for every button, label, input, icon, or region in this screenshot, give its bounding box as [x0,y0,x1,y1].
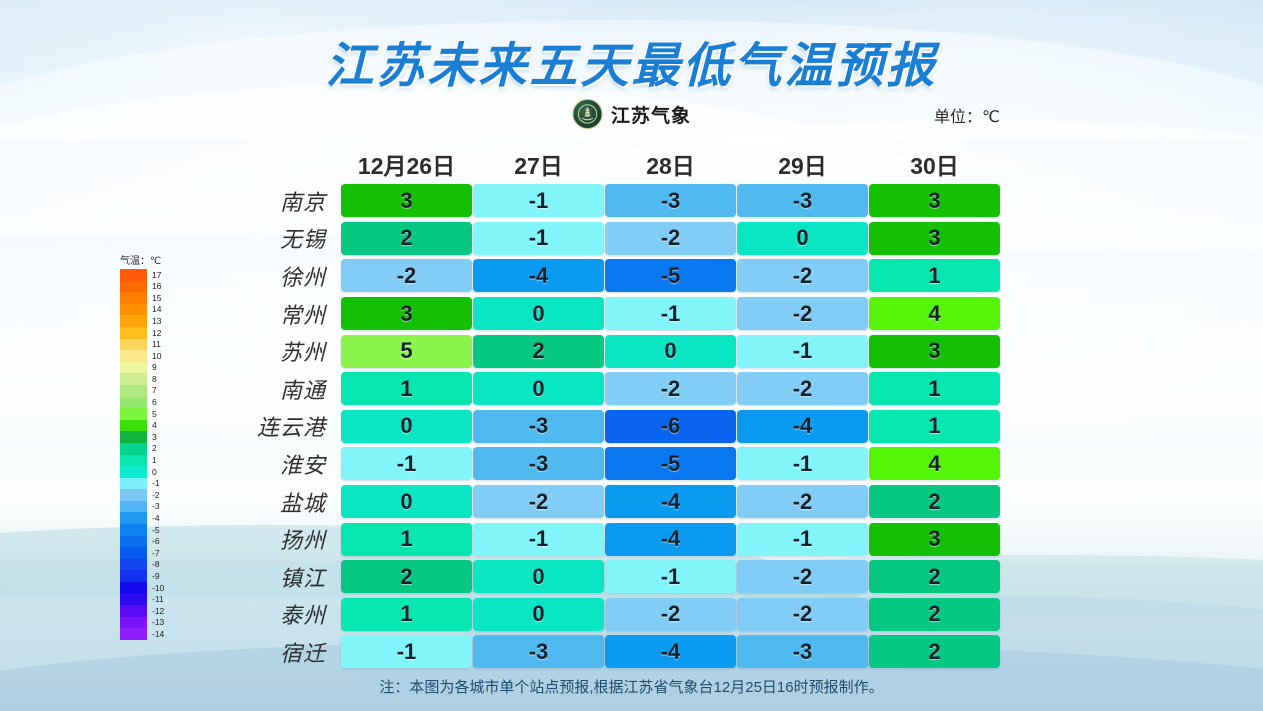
legend-label: 3 [152,433,157,442]
table-column-header: 27日 [473,147,604,181]
legend-label: -6 [152,537,160,546]
temperature-cell: -4 [605,523,736,556]
legend-swatch [120,281,147,293]
footer-note: 注：本图为各城市单个站点预报,根据江苏省气象台12月25日16时预报制作。 [0,676,1263,697]
legend-label: -5 [152,526,160,535]
temperature-cell: 0 [473,560,604,593]
legend-label: 9 [152,363,157,372]
city-label: 扬州 [228,523,340,555]
legend-row: 4 [120,420,186,432]
legend-label: 7 [152,386,157,395]
temperature-cell: -2 [737,560,868,593]
legend-swatch [120,350,147,362]
temperature-cell: -4 [605,635,736,668]
temperature-cell: -3 [737,635,868,668]
legend-label: 6 [152,398,157,407]
temperature-cell: -3 [737,184,868,217]
city-label: 宿迁 [228,636,340,668]
legend-row: 13 [120,315,186,327]
table-column-headers: 12月26日27日28日29日30日 [228,145,1000,182]
temperature-cell: -2 [737,259,868,292]
temperature-cell: 0 [341,485,472,518]
legend-row: -12 [120,605,186,617]
city-label: 泰州 [228,598,340,630]
legend-label: -3 [152,502,160,511]
table-row: 苏州520-13 [228,332,1000,370]
temperature-cell: 1 [341,372,472,405]
legend-row: -11 [120,594,186,606]
table-row: 无锡2-1-203 [228,220,1000,258]
legend-label: -13 [152,618,164,627]
city-label: 淮安 [228,448,340,480]
page-title: 江苏未来五天最低气温预报 [0,26,1263,96]
legend-swatch [120,431,147,443]
legend-row: -3 [120,501,186,513]
table-row: 镇江20-1-22 [228,558,1000,596]
infographic-canvas: 江苏未来五天最低气温预报 江苏气象 单位：℃ 气温：℃ 171615141312… [0,0,1263,711]
legend-title: 气温：℃ [120,256,186,267]
legend-row: 9 [120,362,186,374]
legend-row: -4 [120,512,186,524]
legend-label: -7 [152,549,160,558]
legend-swatch [120,489,147,501]
legend-label: 4 [152,421,157,430]
legend-row: -10 [120,582,186,594]
legend-label: 1 [152,456,157,465]
legend-label: -8 [152,560,160,569]
legend-row: 1 [120,455,186,467]
city-label: 无锡 [228,222,340,254]
temperature-cell: 3 [869,335,1000,368]
temperature-cell: 2 [869,485,1000,518]
temperature-cell: -1 [605,560,736,593]
legend-swatch [120,408,147,420]
legend-swatch [120,373,147,385]
temperature-cell: 0 [473,297,604,330]
legend-label: 14 [152,305,161,314]
temperature-cell: 2 [341,222,472,255]
legend-row: 15 [120,292,186,304]
temperature-cell: 1 [341,598,472,631]
temperature-cell: -3 [473,410,604,443]
city-label: 徐州 [228,260,340,292]
temperature-cell: 0 [737,222,868,255]
temperature-cell: 1 [869,259,1000,292]
temperature-cell: -4 [473,259,604,292]
table-row: 南通10-2-21 [228,370,1000,408]
temperature-cell: -1 [737,447,868,480]
legend-row: -9 [120,570,186,582]
temperature-cell: -6 [605,410,736,443]
temperature-cell: 4 [869,447,1000,480]
temperature-cell: 5 [341,335,472,368]
temperature-cell: 4 [869,297,1000,330]
temperature-cell: 3 [869,184,1000,217]
legend-row: -8 [120,559,186,571]
legend-swatch [120,455,147,467]
legend-row: 6 [120,397,186,409]
temperature-cell: -1 [473,523,604,556]
legend-label: -11 [152,595,164,604]
legend-swatch [120,628,147,640]
temperature-cell: 0 [473,372,604,405]
temperature-cell: 0 [473,598,604,631]
city-label: 连云港 [228,410,340,442]
legend-row: 0 [120,466,186,478]
city-label: 南京 [228,185,340,217]
temperature-legend: 气温：℃ 17161514131211109876543210-1-2-3-4-… [120,256,186,640]
unit-label: 单位：℃ [934,103,1000,127]
legend-row: -1 [120,478,186,490]
temperature-cell: -2 [737,372,868,405]
brand-name: 江苏气象 [611,101,691,128]
legend-row: -14 [120,628,186,640]
legend-row: -2 [120,489,186,501]
legend-swatch [120,397,147,409]
legend-row: -6 [120,536,186,548]
legend-label: 8 [152,375,157,384]
temperature-cell: 2 [341,560,472,593]
temperature-cell: 2 [473,335,604,368]
table-column-header: 12月26日 [341,147,472,181]
temperature-cell: -3 [605,184,736,217]
legend-swatch [120,385,147,397]
legend-swatch [120,443,147,455]
temperature-cell: 3 [869,523,1000,556]
legend-row: -13 [120,617,186,629]
legend-label: 0 [152,468,157,477]
legend-row: 2 [120,443,186,455]
legend-label: -14 [152,630,164,639]
legend-swatch [120,617,147,629]
legend-swatch [120,327,147,339]
brand-row: 江苏气象 单位：℃ [0,99,1263,133]
city-label: 常州 [228,298,340,330]
legend-label: -4 [152,514,160,523]
temperature-cell: -2 [737,485,868,518]
temperature-cell: 3 [869,222,1000,255]
legend-swatch [120,466,147,478]
table-row: 徐州-2-4-5-21 [228,257,1000,295]
legend-swatch [120,269,147,281]
table-column-header: 28日 [605,147,736,181]
jiangsu-meteorology-emblem-icon [572,99,602,129]
temperature-cell: -2 [341,259,472,292]
temperature-cell: -1 [473,184,604,217]
legend-swatch [120,304,147,316]
legend-label: 10 [152,352,161,361]
temperature-cell: -1 [473,222,604,255]
legend-label: 16 [152,282,161,291]
legend-label: 12 [152,329,161,338]
legend-swatch [120,315,147,327]
table-body: 南京3-1-3-33无锡2-1-203徐州-2-4-5-21常州30-1-24苏… [228,182,1000,671]
legend-swatch [120,478,147,490]
temperature-cell: -2 [605,372,736,405]
temperature-cell: 3 [341,297,472,330]
legend-row: 17 [120,269,186,281]
temperature-cell: 0 [605,335,736,368]
temperature-cell: 2 [869,635,1000,668]
temperature-cell: 3 [341,184,472,217]
legend-swatch [120,501,147,513]
temperature-cell: -3 [473,447,604,480]
temperature-cell: 1 [869,372,1000,405]
legend-row: 12 [120,327,186,339]
legend-swatch [120,536,147,548]
legend-swatch [120,292,147,304]
temperature-cell: -1 [341,447,472,480]
legend-swatch [120,570,147,582]
legend-label: 17 [152,271,161,280]
legend-label: -2 [152,491,160,500]
legend-row: 5 [120,408,186,420]
legend-row: 3 [120,431,186,443]
legend-swatch [120,582,147,594]
legend-row: 16 [120,281,186,293]
temperature-cell: -2 [737,297,868,330]
legend-label: 13 [152,317,161,326]
legend-row: -5 [120,524,186,536]
table-row: 扬州1-1-4-13 [228,520,1000,558]
legend-swatch [120,420,147,432]
temperature-cell: 2 [869,560,1000,593]
city-label: 苏州 [228,335,340,367]
temperature-cell: -5 [605,447,736,480]
table-column-header: 29日 [737,147,868,181]
forecast-table: 12月26日27日28日29日30日 南京3-1-3-33无锡2-1-203徐州… [228,145,1000,671]
city-label: 南通 [228,373,340,405]
temperature-cell: -2 [605,222,736,255]
city-label: 盐城 [228,486,340,518]
temperature-cell: -1 [737,523,868,556]
temperature-cell: -4 [605,485,736,518]
legend-label: -9 [152,572,160,581]
temperature-cell: -2 [605,598,736,631]
legend-swatch [120,594,147,606]
legend-swatch [120,339,147,351]
city-label: 镇江 [228,561,340,593]
legend-row: 8 [120,373,186,385]
legend-swatch [120,547,147,559]
temperature-cell: 2 [869,598,1000,631]
temperature-cell: 1 [341,523,472,556]
temperature-cell: -3 [473,635,604,668]
table-row: 泰州10-2-22 [228,596,1000,634]
temperature-cell: -2 [737,598,868,631]
temperature-cell: -1 [341,635,472,668]
legend-label: 2 [152,444,157,453]
table-row: 盐城0-2-4-22 [228,483,1000,521]
temperature-cell: -2 [473,485,604,518]
table-row: 南京3-1-3-33 [228,182,1000,220]
legend-color-scale: 17161514131211109876543210-1-2-3-4-5-6-7… [120,269,186,640]
temperature-cell: -1 [737,335,868,368]
legend-row: 11 [120,339,186,351]
legend-label: 5 [152,410,157,419]
legend-swatch [120,524,147,536]
legend-row: 7 [120,385,186,397]
table-row: 淮安-1-3-5-14 [228,445,1000,483]
legend-label: -12 [152,607,164,616]
table-row: 连云港0-3-6-41 [228,408,1000,446]
temperature-cell: -4 [737,410,868,443]
temperature-cell: -1 [605,297,736,330]
legend-swatch [120,362,147,374]
legend-label: -1 [152,479,160,488]
legend-swatch [120,605,147,617]
legend-row: 10 [120,350,186,362]
table-row: 宿迁-1-3-4-32 [228,633,1000,671]
legend-swatch [120,512,147,524]
brand: 江苏气象 [572,99,691,129]
temperature-cell: 1 [869,410,1000,443]
temperature-cell: -5 [605,259,736,292]
temperature-cell: 0 [341,410,472,443]
table-column-header: 30日 [869,147,1000,181]
legend-label: -10 [152,584,164,593]
legend-label: 15 [152,294,161,303]
legend-row: 14 [120,304,186,316]
table-row: 常州30-1-24 [228,295,1000,333]
legend-row: -7 [120,547,186,559]
legend-swatch [120,559,147,571]
legend-label: 11 [152,340,161,349]
